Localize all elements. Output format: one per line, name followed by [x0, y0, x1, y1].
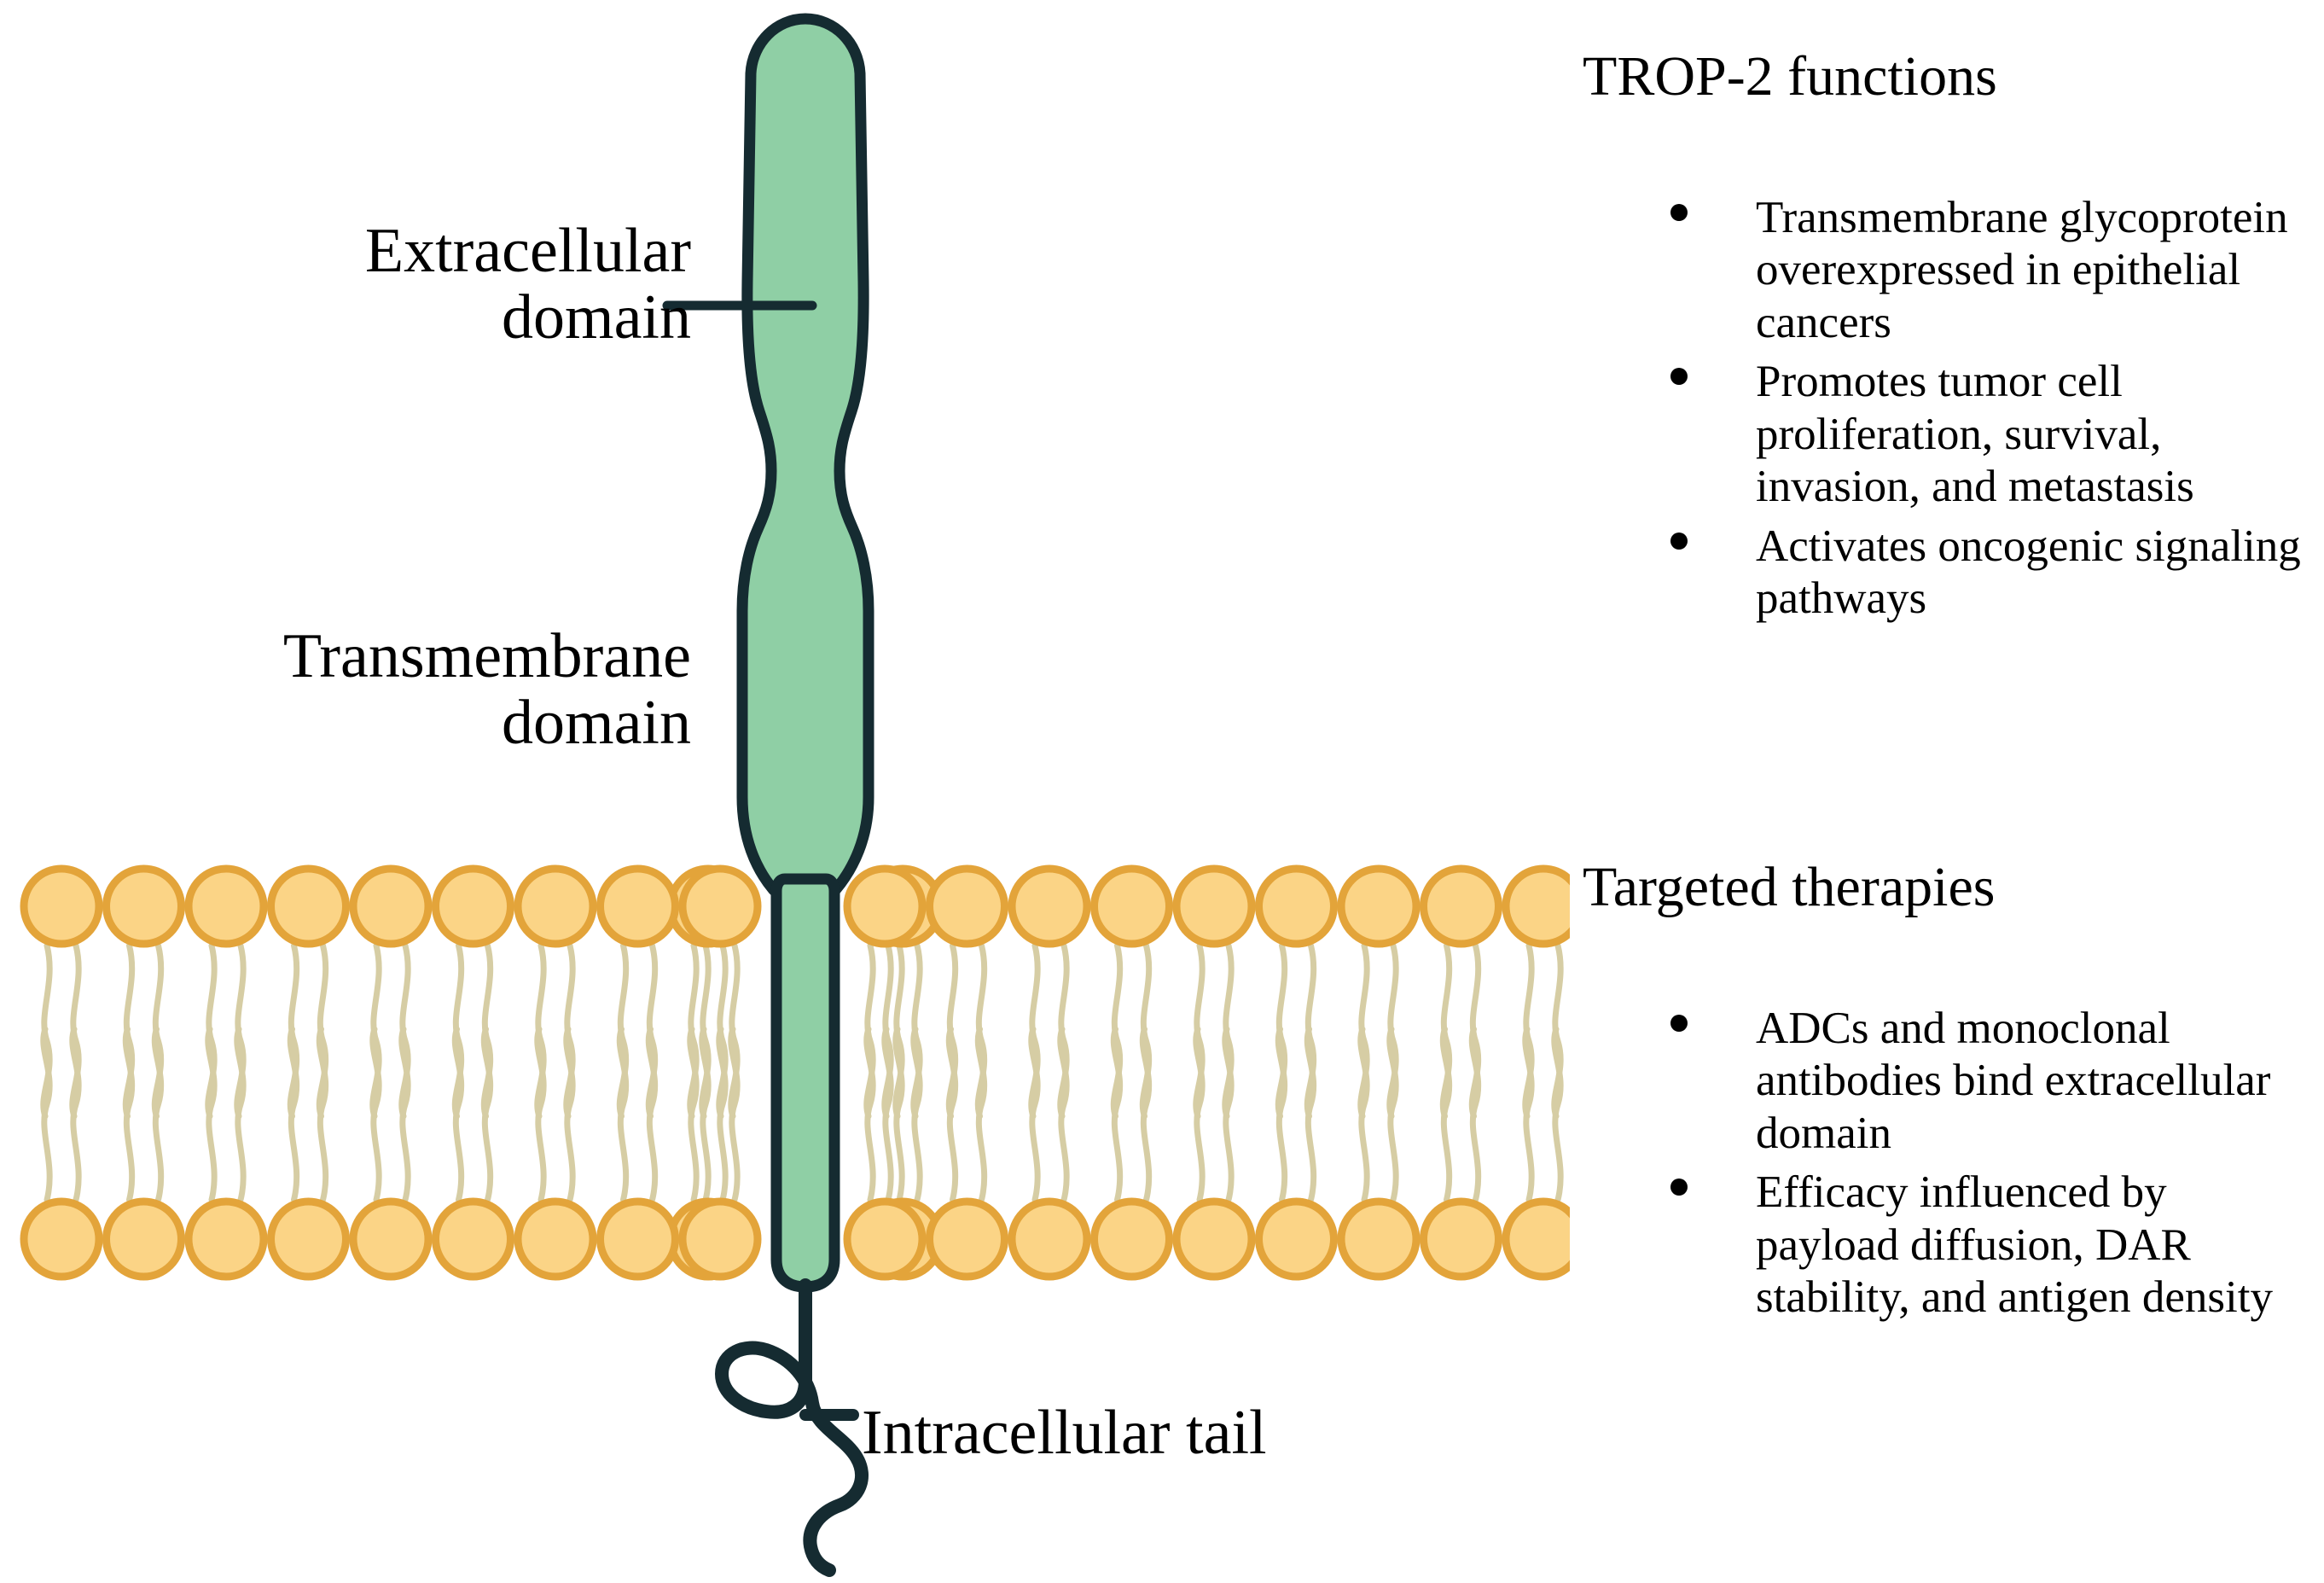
lipid-head: [271, 1202, 346, 1277]
lipid-head: [601, 869, 676, 944]
lipid-head: [1012, 1202, 1087, 1277]
lipid-head: [271, 869, 346, 944]
bullet-text: Transmembrane glycoprotein overexpressed…: [1756, 193, 2288, 347]
lipid-head: [353, 1202, 428, 1277]
lipid-head: [436, 1202, 511, 1277]
bullet-text: Efficacy influenced by payload diffusion…: [1756, 1167, 2273, 1322]
bullet-dot-icon: [1670, 533, 1688, 550]
heading-trop2-functions: TROP-2 functions: [1583, 47, 1997, 106]
lipid-head: [930, 1202, 1005, 1277]
lipid-head: [518, 869, 593, 944]
lipid-head: [1341, 1202, 1416, 1277]
lipid-head: [107, 869, 182, 944]
bullet-dot-icon: [1670, 1179, 1688, 1196]
bullet-text: Activates oncogenic signaling pathways: [1756, 521, 2301, 623]
protein-extracellular-body: [742, 19, 869, 898]
lipid-head: [353, 869, 428, 944]
bullet-text: Promotes tumor cell proliferation, survi…: [1756, 357, 2194, 511]
lipid-head: [930, 869, 1005, 944]
lipid-head: [1506, 869, 1570, 944]
info-text-panel: TROP-2 functions Transmembrane glycoprot…: [1570, 0, 2324, 1583]
lipid-head: [683, 869, 758, 944]
label-intracellular-tail: Intracellular tail: [862, 1400, 1267, 1466]
bullet-dot-icon: [1670, 1015, 1688, 1032]
lipid-head: [189, 869, 264, 944]
lipid-head: [1424, 1202, 1499, 1277]
label-transmembrane-domain: Transmembrane domain: [9, 623, 691, 757]
protein-intracellular-tail: [722, 1285, 862, 1570]
trop2-protein: [722, 19, 869, 1570]
lipid-head: [189, 1202, 264, 1277]
bullet-text: ADCs and monoclonal antibodies bind extr…: [1756, 1004, 2270, 1158]
bullet-dot-icon: [1670, 368, 1688, 385]
lipid-head: [518, 1202, 593, 1277]
lipid-head: [847, 1202, 922, 1277]
bullet-list-targeted-therapies: ADCs and monoclonal antibodies bind extr…: [1570, 1003, 2324, 1331]
bullet-list-trop2-functions: Transmembrane glycoprotein overexpressed…: [1570, 192, 2324, 632]
lipid-head: [1341, 869, 1416, 944]
bullet-item: Transmembrane glycoprotein overexpressed…: [1570, 192, 2324, 349]
bullet-item: Efficacy influenced by payload diffusion…: [1570, 1167, 2324, 1324]
heading-targeted-therapies: Targeted therapies: [1583, 858, 1995, 917]
lipid-head: [1095, 869, 1170, 944]
bullet-item: Promotes tumor cell proliferation, survi…: [1570, 356, 2324, 513]
lipid-head: [1012, 869, 1087, 944]
bullet-dot-icon: [1670, 204, 1688, 221]
label-extracellular-domain: Extracellular domain: [102, 218, 691, 352]
lipid-head: [1095, 1202, 1170, 1277]
lipid-head: [847, 869, 922, 944]
diagram-page: Extracellular domain Transmembrane domai…: [0, 0, 2324, 1583]
lipid-head: [683, 1202, 758, 1277]
lipid-head: [1177, 1202, 1252, 1277]
lipid-head: [1259, 1202, 1334, 1277]
bullet-item: ADCs and monoclonal antibodies bind extr…: [1570, 1003, 2324, 1160]
lipid-head: [436, 869, 511, 944]
lipid-head: [107, 1202, 182, 1277]
lipid-head: [1177, 869, 1252, 944]
membrane-diagram-panel: Extracellular domain Transmembrane domai…: [0, 0, 1570, 1583]
lipid-head: [1259, 869, 1334, 944]
protein-transmembrane-stalk: [776, 879, 834, 1287]
bullet-item: Activates oncogenic signaling pathways: [1570, 521, 2324, 626]
lipid-head: [1424, 869, 1499, 944]
lipid-head: [601, 1202, 676, 1277]
lipid-head: [24, 869, 99, 944]
lipid-head: [24, 1202, 99, 1277]
lipid-head: [1506, 1202, 1570, 1277]
